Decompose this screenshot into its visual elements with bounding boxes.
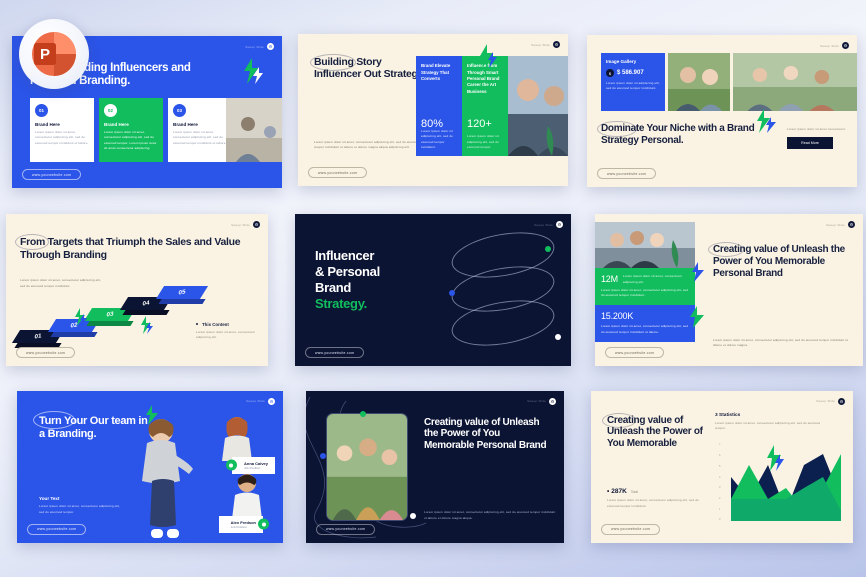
page-title: From Targets that Triumph the Sales and … [20,236,250,260]
stat-panel[interactable]: Brand Elevate Strategy That Converts 80%… [416,56,462,156]
stat-caption: Lorem ipsum dolor sit amet, consectetur … [623,274,689,285]
corner-label: Sweep Slide [245,45,264,49]
slide-grid: Sweep Slide ⚙ Understanding Influencers … [0,0,866,577]
side-text: Lorem ipsum dolor sit amet consectetur. [787,127,849,132]
gear-icon: ⚙ [268,398,275,405]
chart-y-axis: 765 432 10 [719,443,731,521]
slide-cell-4: Sweep Slide ⚙ From Targets that Triumph … [5,204,285,372]
brand-card-list: 01 Brand Here Lorem ipsum dolor sit amet… [30,98,232,162]
title-line-2: & Personal [315,264,380,280]
dot-white [555,334,561,340]
gear-icon: ⚙ [838,398,845,405]
card-body: Lorem ipsum dolor sit amet, consectetur … [35,130,89,146]
gear-icon: ⚙ [553,41,560,48]
slide-corner-badge: Sweep Slide ⚙ [231,221,260,228]
gallery-heading: Image Gallery [606,59,660,64]
corner-label: Sweep Slide [820,44,839,48]
business-photo [508,56,568,156]
stat-panel[interactable]: Influence from Through Smart Personal Br… [462,56,508,156]
person-photo-anna [215,411,259,461]
gallery-row: Image Gallery $ $ 586.907 Lorem ipsum do… [601,53,857,111]
page-title: Creating value of Unleash the Power of Y… [713,244,849,279]
slide-corner-badge: Sweep Slide ⚙ [246,398,275,405]
website-badge[interactable]: www.yourwebsite.com [308,167,367,178]
lightning-bolt-icon [689,306,707,328]
dot-white [410,513,416,519]
gallery-photo-2 [733,53,857,111]
panel-value: 120+ [467,118,492,130]
website-badge[interactable]: www.yourwebsite.com [597,168,656,179]
card-body: Lorem ipsum dolor sit amet, consectetur … [104,130,158,151]
slide-cell-5: Sweep Slide ⚙ Influencer & Personal Bran… [293,204,573,372]
chart-title: 3 Statistics [715,413,843,418]
gallery-photo-1 [668,53,730,111]
stat-block: 287K Total Lorem ipsum dolor sit amet, c… [607,488,705,509]
slide-3[interactable]: Sweep Slide ⚙ Image Gallery $ $ 586.907 … [587,35,857,187]
panel-caption: Lorem ipsum dolor sit adipiscing elit, s… [467,134,503,150]
body-text: Lorem ipsum dolor sit amet, consectetur … [314,140,424,151]
page-title: Dominate Your Niche with a Brand Strateg… [601,123,761,146]
lightning-bolt-icon [74,308,88,326]
slide-cell-2: Sweep Slide ⚙ Building Story Influencer … [293,30,573,198]
stat-caption: Lorem ipsum dolor sit amet, consectetur … [601,324,689,335]
dot-blue [449,290,455,296]
card-heading: Brand Here [104,122,158,127]
powerpoint-icon: P [32,32,76,76]
slide-4[interactable]: Sweep Slide ⚙ From Targets that Triumph … [6,214,268,366]
chart-plot [731,443,841,521]
your-text-heading: Your Text [39,496,125,501]
title-line-3: Brand [315,280,380,296]
slide-corner-badge: Sweep Slide ⚙ [534,221,563,228]
read-more-button[interactable]: Read More [787,137,833,149]
slide-corner-badge: Sweep Slide ⚙ [826,221,855,228]
corner-label: Sweep Slide [231,223,250,227]
slide-cell-8: Sweep Slide ⚙ [293,379,573,547]
slide-corner-badge: Sweep Slide ⚙ [245,43,274,50]
stat-value: 15.200K [601,311,689,321]
content-heading: This Content [196,322,258,327]
name-card[interactable]: Alex Fredson Job Position [219,516,263,533]
tablet-photo-frame [326,413,408,521]
website-badge[interactable]: www.yourwebsite.com [601,524,660,535]
gear-icon: ⚙ [549,398,556,405]
panel-caption: Lorem ipsum dolor sit adipiscing elit, s… [421,129,457,150]
stat-value: 12M [601,274,618,284]
corner-label: Sweep Slide [527,399,546,403]
website-badge[interactable]: www.yourwebsite.com [22,169,81,180]
corner-label: Sweep Slide [816,399,835,403]
card-heading: Brand Here [35,122,89,127]
card-heading: Brand Here [173,122,227,127]
staircase-diagram: 01 02 03 04 05 [12,286,262,354]
stat-card-blue[interactable]: 15.200K Lorem ipsum dolor sit amet, cons… [595,305,695,342]
body-text: Lorem ipsum dolor sit amet, consectetur … [713,338,853,349]
brand-card[interactable]: 01 Brand Here Lorem ipsum dolor sit amet… [30,98,94,162]
spiral-decoration [447,228,565,356]
slide-cell-6: Sweep Slide ⚙ [581,204,861,372]
corner-label: Sweep Slide [534,223,553,227]
stat-panel-list: Brand Elevate Strategy That Converts 80%… [416,56,568,156]
team-photo [226,98,282,162]
slide-7[interactable]: Sweep Slide ⚙ Turn Your Our team in a Br… [17,391,283,543]
stat-value: 287K [607,488,627,495]
gallery-caption: Lorem ipsum dolor sit adipiscing elit, s… [606,81,660,92]
corner-label: Sweep Slide [531,43,550,47]
lightning-bolt-icon [140,316,154,334]
card-body: Lorem ipsum dolor sit amet, consectetur … [173,130,227,146]
slide-2[interactable]: Sweep Slide ⚙ Building Story Influencer … [298,34,568,186]
gear-icon: ⚙ [556,221,563,228]
title-line-1: Influencer [315,248,380,264]
title-accent: Strategy. [315,296,380,312]
powerpoint-letter: P [34,43,56,65]
website-badge[interactable]: www.yourwebsite.com [605,347,664,358]
panel-heading: Brand Elevate Strategy That Converts [421,63,457,82]
slide-cell-3: Sweep Slide ⚙ Image Gallery $ $ 586.907 … [581,30,861,198]
stat-body: Lorem ipsum dolor sit amet, consectetur … [601,288,689,299]
website-badge[interactable]: www.yourwebsite.com [305,347,364,358]
slide-8[interactable]: Sweep Slide ⚙ [306,391,564,543]
stat-caption: Total [631,490,638,494]
slide-6[interactable]: Sweep Slide ⚙ [595,214,863,366]
your-text-body: Lorem ipsum dolor sit amet, consectetur … [39,504,125,515]
card-number: 03 [173,104,186,117]
chart-header: 3 Statistics Lorem ipsum dolor sit amet,… [715,413,843,432]
website-badge[interactable]: www.yourwebsite.com [16,347,75,358]
slide-cell-7: Sweep Slide ⚙ Turn Your Our team in a Br… [5,379,285,547]
step-block[interactable]: 05 [160,286,204,304]
gear-icon: ⚙ [253,221,260,228]
content-note: This Content Lorem ipsum dolor sit amet,… [196,322,258,341]
chart-subtitle: Lorem ipsum dolor sit amet, consectetur … [715,421,827,432]
content-body: Lorem ipsum dolor sit amet, consectetur … [196,330,258,341]
slide-5[interactable]: Sweep Slide ⚙ Influencer & Personal Bran… [295,214,571,366]
gallery-info-card[interactable]: Image Gallery $ $ 586.907 Lorem ipsum do… [601,53,665,111]
page-title: Building Story Influencer Out Strategy [314,56,426,80]
stat-card-green[interactable]: 12M Lorem ipsum dolor sit amet, consecte… [595,268,695,305]
lightning-bolt-icon [755,109,777,133]
card-number: 02 [104,104,117,117]
slide-corner-badge: Sweep Slide ⚙ [531,41,560,48]
main-person-photo [127,411,199,543]
side-panel: Lorem ipsum dolor sit amet consectetur. … [787,127,849,149]
dot-blue [320,453,326,459]
gallery-value: $ 586.907 [617,70,644,76]
card-number: 01 [35,104,48,117]
gallery-price: $ $ 586.907 [606,69,660,77]
brand-card[interactable]: 02 Brand Here Lorem ipsum dolor sit amet… [99,98,163,162]
lightning-bolt-icon [478,44,498,68]
person-role: Job Position [231,525,256,529]
slide-corner-badge: Sweep Slide ⚙ [820,42,849,49]
gear-icon: ⚙ [267,43,274,50]
page-title: Creating value of Unleash the Power of Y… [607,415,711,450]
page-title: Influencer & Personal Brand Strategy. [315,248,380,311]
stat-column: 12M Lorem ipsum dolor sit amet, consecte… [595,222,695,342]
stat-body: Lorem ipsum dolor sit amet, consectetur … [607,498,705,509]
slide-9[interactable]: Sweep Slide ⚙ Creating value of Unleash … [591,391,853,543]
brand-card[interactable]: 03 Brand Here Lorem ipsum dolor sit amet… [168,98,232,162]
lightning-bolt-icon [765,445,785,471]
area-chart: 765 432 10 [719,443,841,521]
your-text-block: Your Text Lorem ipsum dolor sit amet, co… [39,496,125,515]
person-icon [258,519,269,530]
dot-green [545,246,551,252]
dollar-icon: $ [606,69,614,77]
gear-icon: ⚙ [842,42,849,49]
lightning-bolt-icon [691,262,707,282]
dot-green [360,411,366,417]
website-badge[interactable]: www.yourwebsite.com [316,524,375,535]
corner-label: Sweep Slide [826,223,845,227]
gear-icon: ⚙ [848,221,855,228]
body-text: Lorem ipsum dolor sit amet, consectetur … [424,510,556,521]
page-title: Creating value of Unleash the Power of Y… [424,417,552,452]
slide-corner-badge: Sweep Slide ⚙ [527,398,556,405]
lightning-bolt-icon [242,58,264,84]
website-badge[interactable]: www.yourwebsite.com [27,524,86,535]
slide-corner-badge: Sweep Slide ⚙ [816,398,845,405]
corner-label: Sweep Slide [246,399,265,403]
powerpoint-badge: P [19,19,89,89]
person-photo-alex [225,469,269,519]
slide-cell-9: Sweep Slide ⚙ Creating value of Unleash … [581,379,861,547]
business-team-photo [595,222,695,268]
